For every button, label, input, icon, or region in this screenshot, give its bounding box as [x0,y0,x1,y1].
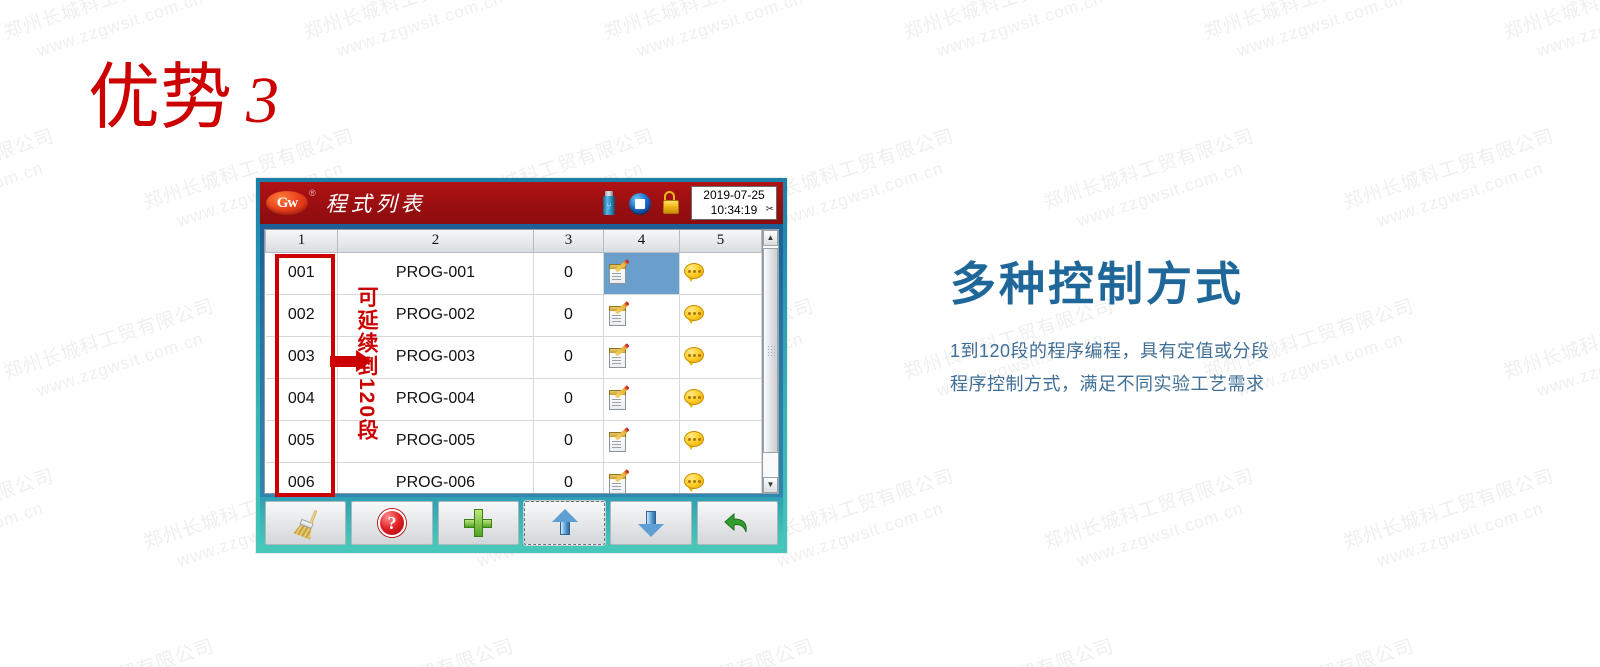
row-edit-cell[interactable] [604,294,680,336]
arrow-up-icon [551,509,579,537]
scrollbar-grip [767,345,775,357]
panel-title: 程式列表 [326,188,426,218]
note-icon[interactable] [684,263,705,283]
device-inner: Gw ® 程式列表 ⑂ 2019-07-25 [260,182,783,549]
watermark: 郑州长城科工贸有限公司www.zzgwsit.com.cn [900,632,1126,667]
back-arrow-icon [722,509,752,537]
titlebar: Gw ® 程式列表 ⑂ 2019-07-25 [260,182,783,224]
row-id[interactable]: 004 [266,378,338,420]
edit-icon[interactable] [608,304,630,327]
watermark: 郑州长城科工贸有限公司www.zzgwsit.com.cn [900,0,1126,73]
program-grid: 1 2 3 4 5 001PROG-0010002PROG-0020003PRO… [264,229,763,494]
row-edit-cell[interactable] [604,252,680,294]
stop-square [635,199,645,209]
column-header-2[interactable]: 2 [338,230,534,252]
vertical-scrollbar[interactable]: ▲ ▼ [763,229,779,494]
row-note-cell[interactable] [680,420,762,462]
edit-icon[interactable] [608,262,630,285]
scrollbar-track[interactable] [763,246,778,477]
help-button[interactable]: ? [351,501,432,545]
table-header: 1 2 3 4 5 [266,230,762,252]
table-row[interactable]: 006PROG-0060 [266,462,762,494]
watermark: 郑州长城科工贸有限公司www.zzgwsit.com.cn [1040,462,1266,583]
note-icon[interactable] [684,431,705,451]
row-id[interactable]: 006 [266,462,338,494]
date-text: 2019-07-25 [703,188,764,203]
row-name[interactable]: PROG-003 [338,336,534,378]
table-header-row: 1 2 3 4 5 [266,230,762,252]
plus-icon [463,508,493,538]
note-icon[interactable] [684,473,705,493]
table-row[interactable]: 003PROG-0030 [266,336,762,378]
column-header-5[interactable]: 5 [680,230,762,252]
brand-logo-icon: Gw [266,191,308,215]
watermark: 郑州长城科工贸有限公司www.zzgwsit.com.cn [1500,632,1600,667]
bottom-toolbar: ? [260,497,783,549]
time-text: 10:34:19 [711,203,758,218]
cursor-icon: ✂ [766,202,774,217]
watermark: 郑州长城科工贸有限公司www.zzgwsit.com.cn [1500,0,1600,73]
watermark: 郑州长城科工贸有限公司www.zzgwsit.com.cn [0,462,66,583]
feature-description: 多种控制方式 1到120段的程序编程，具有定值或分段 程序控制方式，满足不同实验… [950,258,1420,401]
registered-mark: ® [309,188,316,198]
move-up-button[interactable] [524,501,605,545]
feature-heading: 多种控制方式 [950,258,1420,311]
datetime-display[interactable]: 2019-07-25 10:34:19 ✂ [691,186,777,220]
table-row[interactable]: 001PROG-0010 [266,252,762,294]
back-button[interactable] [697,501,778,545]
padlock-body [663,200,679,214]
row-value[interactable]: 0 [534,294,604,336]
row-name[interactable]: PROG-002 [338,294,534,336]
table-row[interactable]: 002PROG-0020 [266,294,762,336]
page-title: 优势3 [88,62,279,134]
watermark: 郑州长城科工贸有限公司www.zzgwsit.com.cn [300,0,526,73]
row-edit-cell[interactable] [604,336,680,378]
row-note-cell[interactable] [680,294,762,336]
advantage-number: 3 [232,64,279,137]
row-note-cell[interactable] [680,252,762,294]
move-down-button[interactable] [610,501,691,545]
watermark: 郑州长城科工贸有限公司www.zzgwsit.com.cn [1340,122,1566,243]
edit-icon[interactable] [608,346,630,369]
row-name[interactable]: PROG-006 [338,462,534,494]
broom-icon [291,509,321,537]
row-name[interactable]: PROG-005 [338,420,534,462]
usb-mark: ⑂ [606,202,612,211]
note-icon[interactable] [684,305,705,325]
feature-body-line-1: 1到120段的程序编程，具有定值或分段 [950,335,1420,368]
scrollbar-thumb[interactable] [763,248,778,453]
table-row[interactable]: 004PROG-0040 [266,378,762,420]
usb-icon[interactable]: ⑂ [598,190,620,216]
feature-body-line-2: 程序控制方式，满足不同实验工艺需求 [950,368,1420,401]
edit-icon[interactable] [608,472,630,495]
watermark: 郑州长城科工贸有限公司www.zzgwsit.com.cn [1200,632,1426,667]
question-mark-icon: ? [378,509,406,537]
scroll-up-button[interactable]: ▲ [763,230,778,246]
watermark: 郑州长城科工贸有限公司www.zzgwsit.com.cn [300,632,526,667]
advantage-label: 优势 [88,58,232,138]
program-table: 1 2 3 4 5 001PROG-0010002PROG-0020003PRO… [265,230,762,494]
watermark: 郑州长城科工贸有限公司www.zzgwsit.com.cn [0,632,226,667]
row-value[interactable]: 0 [534,378,604,420]
row-id[interactable]: 003 [266,336,338,378]
clear-button[interactable] [265,501,346,545]
row-id[interactable]: 001 [266,252,338,294]
add-button[interactable] [438,501,519,545]
column-header-4[interactable]: 4 [604,230,680,252]
table-row[interactable]: 005PROG-0050 [266,420,762,462]
note-icon[interactable] [684,389,705,409]
row-edit-cell[interactable] [604,420,680,462]
row-value[interactable]: 0 [534,462,604,494]
note-icon[interactable] [684,347,705,367]
edit-icon[interactable] [608,430,630,453]
row-name[interactable]: PROG-004 [338,378,534,420]
feature-body: 1到120段的程序编程，具有定值或分段 程序控制方式，满足不同实验工艺需求 [950,335,1420,402]
row-note-cell[interactable] [680,336,762,378]
stop-icon[interactable] [629,190,651,216]
watermark: 郑州长城科工贸有限公司www.zzgwsit.com.cn [0,122,66,243]
watermark: 郑州长城科工贸有限公司www.zzgwsit.com.cn [1340,462,1566,583]
watermark: 郑州长城科工贸有限公司www.zzgwsit.com.cn [600,0,826,73]
row-note-cell[interactable] [680,462,762,494]
edit-icon[interactable] [608,388,630,411]
watermark: 郑州长城科工贸有限公司www.zzgwsit.com.cn [0,292,226,413]
watermark: 郑州长城科工贸有限公司www.zzgwsit.com.cn [1200,0,1426,73]
row-edit-cell[interactable] [604,378,680,420]
row-value[interactable]: 0 [534,336,604,378]
column-header-3[interactable]: 3 [534,230,604,252]
table-body: 001PROG-0010002PROG-0020003PROG-0030004P… [266,252,762,494]
arrow-down-icon [637,509,665,537]
row-id[interactable]: 005 [266,420,338,462]
scroll-down-button[interactable]: ▼ [763,477,778,493]
row-value[interactable]: 0 [534,420,604,462]
brand-logo-text: Gw [277,195,298,212]
watermark: 郑州长城科工贸有限公司www.zzgwsit.com.cn [1040,122,1266,243]
watermark: 郑州长城科工贸有限公司www.zzgwsit.com.cn [600,632,826,667]
row-note-cell[interactable] [680,378,762,420]
row-edit-cell[interactable] [604,462,680,494]
row-name[interactable]: PROG-001 [338,252,534,294]
column-header-1[interactable]: 1 [266,230,338,252]
titlebar-status-area: ⑂ 2019-07-25 10:34:19 ✂ [598,186,779,220]
watermark: 郑州长城科工贸有限公司www.zzgwsit.com.cn [1500,292,1600,413]
unlocked-padlock-icon[interactable] [660,190,682,216]
device-screen: Gw ® 程式列表 ⑂ 2019-07-25 [256,178,787,553]
row-id[interactable]: 002 [266,294,338,336]
table-zone: 1 2 3 4 5 001PROG-0010002PROG-0020003PRO… [260,224,783,497]
row-value[interactable]: 0 [534,252,604,294]
